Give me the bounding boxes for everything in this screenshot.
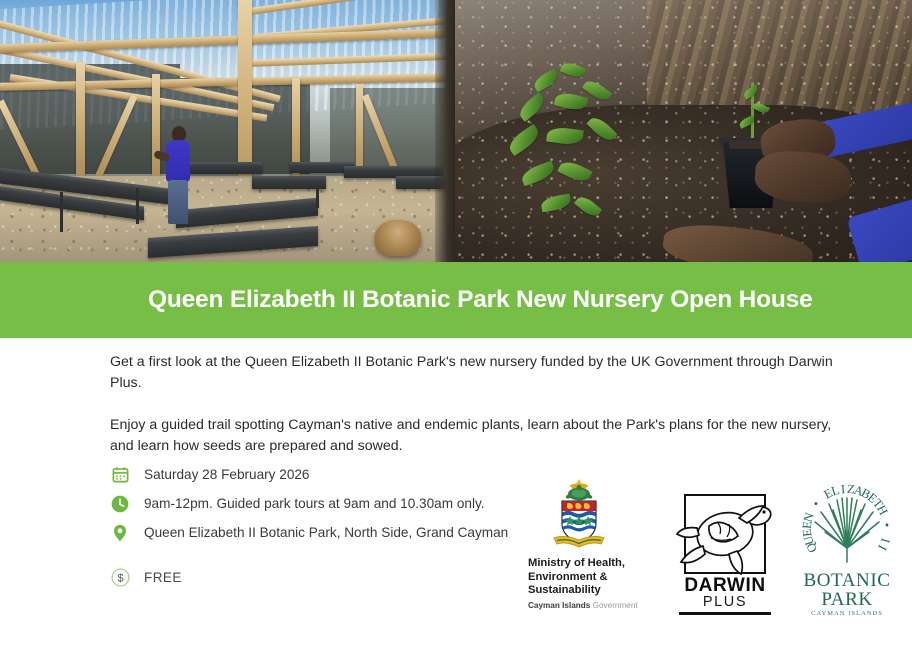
dollar-circle-icon: $ <box>108 566 132 590</box>
darwin-plus-logo: DARWIN PLUS <box>673 494 777 615</box>
palm-fan-icon: QUEEN•ELIZABETH•II <box>791 486 903 572</box>
detail-text-price: FREE <box>144 570 182 585</box>
government-bold-text: Cayman Islands <box>528 601 590 610</box>
ministry-name: Ministry of Health, Environment & Sustai… <box>528 557 658 598</box>
propagation-bench <box>186 162 262 174</box>
cayman-islands-subtitle: CAYMAN ISLANDS <box>788 610 906 617</box>
government-light-text: Government <box>593 601 638 610</box>
calendar-icon <box>108 463 132 487</box>
support-post <box>76 62 85 182</box>
detail-text-time: 9am-12pm. Guided park tours at 9am and 1… <box>144 496 485 511</box>
title-banner: Queen Elizabeth II Botanic Park New Nurs… <box>0 262 912 338</box>
svg-text:$: $ <box>117 572 123 584</box>
darwin-turtle-icon <box>684 494 766 574</box>
arc-letter: I <box>840 482 846 497</box>
detail-row-time: 9am-12pm. Guided park tours at 9am and 1… <box>108 489 538 518</box>
darwin-underline <box>679 612 771 615</box>
location-pin-icon <box>108 521 132 545</box>
tree-stump <box>375 220 421 256</box>
arc-letter: E <box>800 528 816 537</box>
ministry-line-1: Ministry of Health, <box>528 557 658 571</box>
body-content: Get a first look at the Queen Elizabeth … <box>0 338 912 457</box>
ministry-line-3: Sustainability <box>528 584 658 598</box>
propagation-bench <box>252 176 326 189</box>
detail-text-date: Saturday 28 February 2026 <box>144 467 310 482</box>
intro-paragraph: Get a first look at the Queen Elizabeth … <box>110 352 840 394</box>
bench-leg <box>136 188 139 224</box>
flyer-page: Queen Elizabeth II Botanic Park New Nurs… <box>0 0 912 652</box>
detail-text-location: Queen Elizabeth II Botanic Park, North S… <box>144 525 508 540</box>
botanic-park-logo: QUEEN•ELIZABETH•II BOTANIC PARK CAYMAN I… <box>788 486 906 617</box>
logo-row: Ministry of Health, Environment & Sustai… <box>520 478 912 624</box>
bench-leg <box>316 186 319 208</box>
visitor-figure <box>166 140 190 182</box>
nursery-greenhouse-photo <box>0 0 455 262</box>
cayman-islands-coat-of-arms-icon <box>548 478 610 552</box>
event-details-list: Saturday 28 February 2026 9am-12pm. Guid… <box>108 460 538 592</box>
detail-row-price: $ FREE <box>108 563 538 592</box>
visitor-figure <box>168 180 188 224</box>
detail-row-location: Queen Elizabeth II Botanic Park, North S… <box>108 518 538 547</box>
ministry-logo: Ministry of Health, Environment & Sustai… <box>528 478 658 611</box>
bench-leg <box>60 192 63 232</box>
ministry-line-2: Environment & <box>528 571 658 585</box>
detail-row-date: Saturday 28 February 2026 <box>108 460 538 489</box>
planting-hands-photo <box>455 0 912 262</box>
photo-strip <box>0 0 912 262</box>
park-wordmark: PARK <box>788 590 906 609</box>
government-subtitle: Cayman Islands Government <box>528 601 658 611</box>
clock-icon <box>108 492 132 516</box>
palm-trunk <box>435 0 455 262</box>
support-post <box>152 74 160 182</box>
activities-paragraph: Enjoy a guided trail spotting Cayman's n… <box>110 415 840 457</box>
page-title: Queen Elizabeth II Botanic Park New Nurs… <box>148 286 813 314</box>
